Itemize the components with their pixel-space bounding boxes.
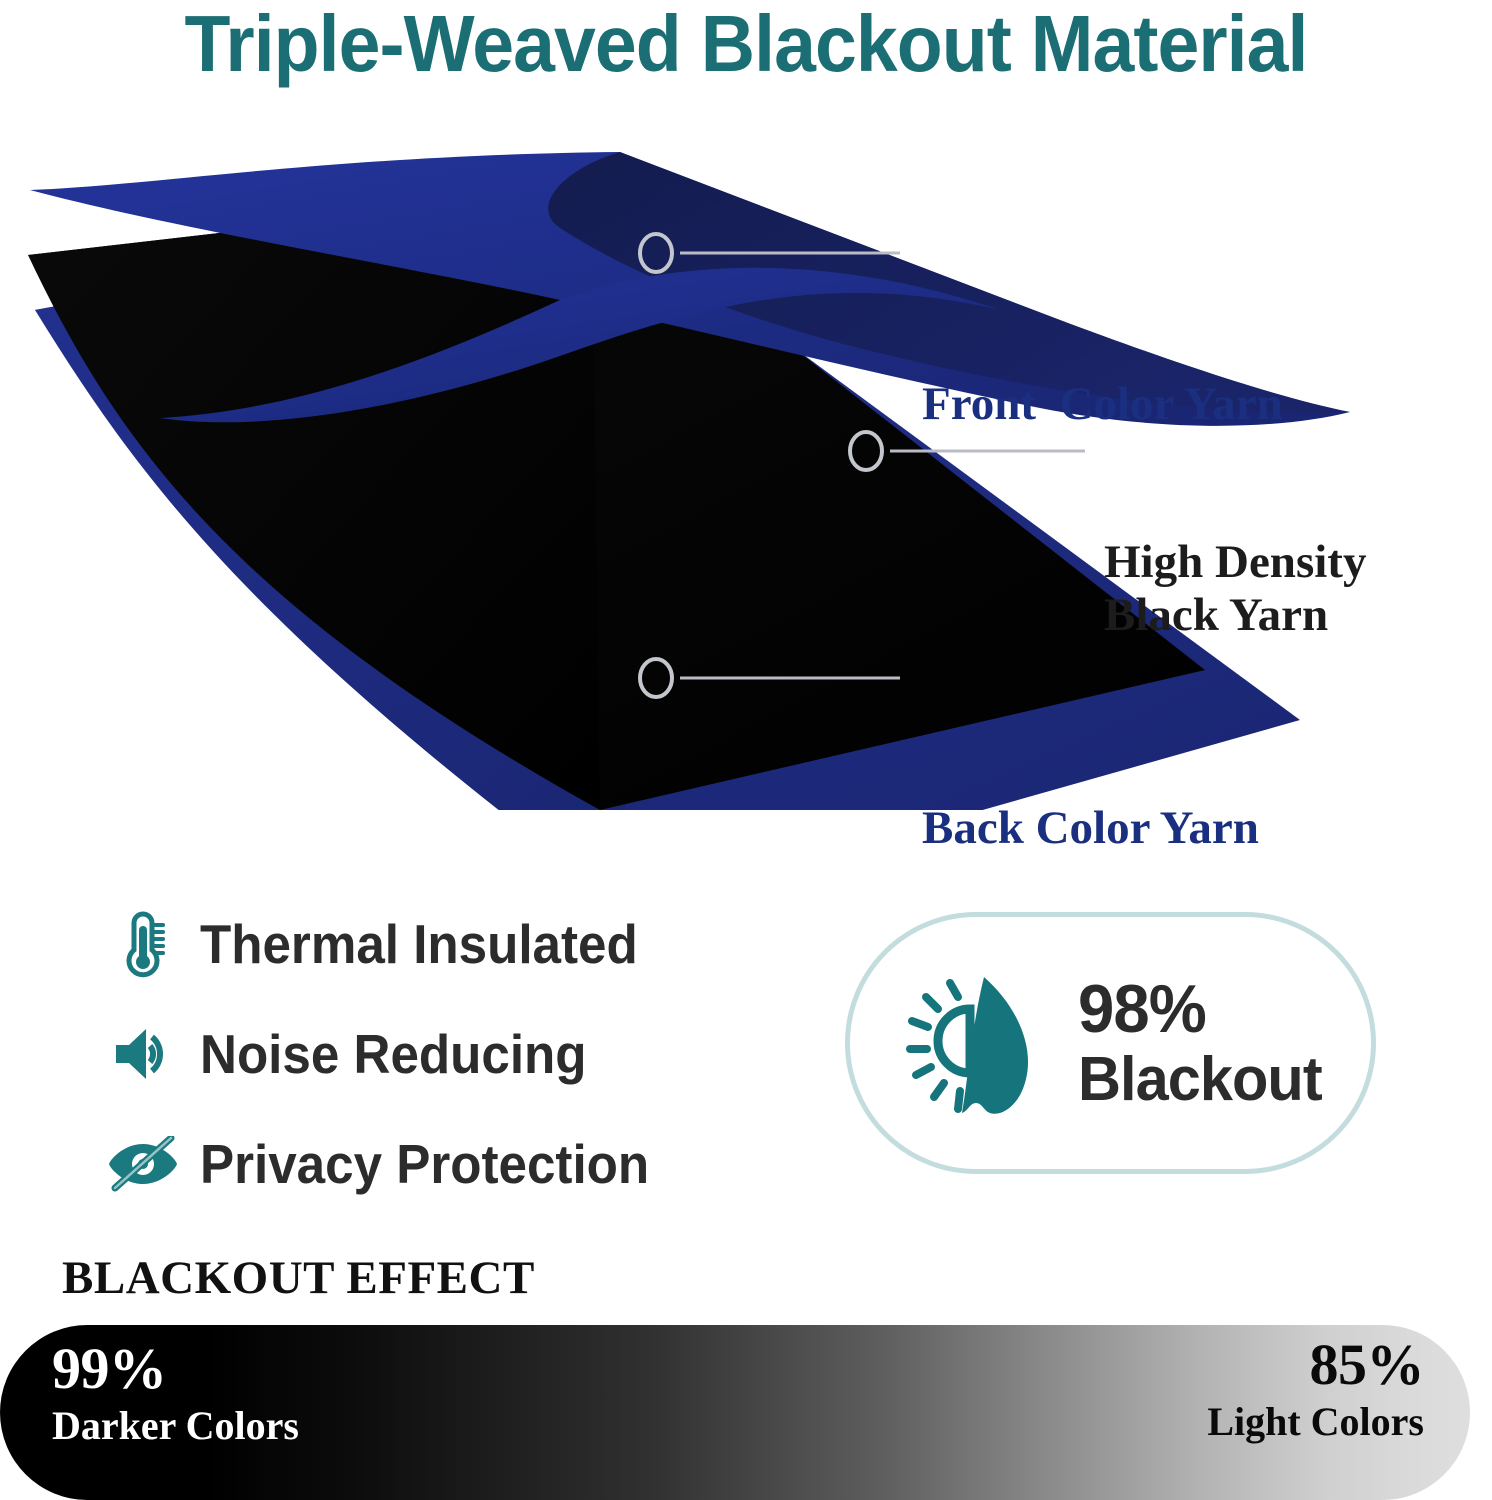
badge-percent-value: 98%	[1078, 975, 1322, 1043]
feature-item-privacy-protection: Privacy Protection	[106, 1118, 796, 1210]
feature-item-noise-reducing: Noise Reducing	[106, 1008, 796, 1100]
badge-text-block: 98% Blackout	[1078, 975, 1322, 1111]
gradient-bar-right-stat: 85% Light Colors	[1207, 1336, 1424, 1442]
light-colors-caption: Light Colors	[1207, 1402, 1424, 1442]
callout-label-front-color-yarn: Front Color Yarn	[922, 378, 1283, 431]
feature-list: Thermal Insulated Noise Reducing Privacy…	[106, 898, 796, 1228]
thermometer-icon	[106, 907, 180, 981]
page-title: Triple-Weaved Blackout Material	[45, 0, 1447, 92]
eye-off-icon	[106, 1127, 180, 1201]
light-colors-percent: 85%	[1207, 1336, 1424, 1394]
feature-label-privacy-protection: Privacy Protection	[200, 1134, 649, 1194]
speaker-sound-icon	[106, 1017, 180, 1091]
badge-percent-caption: Blackout	[1078, 1049, 1322, 1111]
blackout-percentage-badge: 98% Blackout	[845, 912, 1376, 1174]
gradient-bar-left-stat: 99% Darker Colors	[52, 1340, 299, 1446]
feature-item-thermal-insulated: Thermal Insulated	[106, 898, 796, 990]
fabric-layer-diagram: Front Color Yarn High Density Black Yarn…	[0, 150, 1492, 810]
darker-colors-percent: 99%	[52, 1340, 299, 1398]
sun-blocked-icon	[898, 963, 1048, 1123]
feature-label-noise-reducing: Noise Reducing	[200, 1024, 587, 1084]
darker-colors-caption: Darker Colors	[52, 1406, 299, 1446]
callout-label-back-color-yarn: Back Color Yarn	[922, 802, 1259, 855]
feature-label-thermal-insulated: Thermal Insulated	[200, 914, 638, 974]
callout-label-high-density-black-yarn: High Density Black Yarn	[1104, 536, 1366, 641]
blackout-effect-heading: BLACKOUT EFFECT	[62, 1252, 535, 1304]
